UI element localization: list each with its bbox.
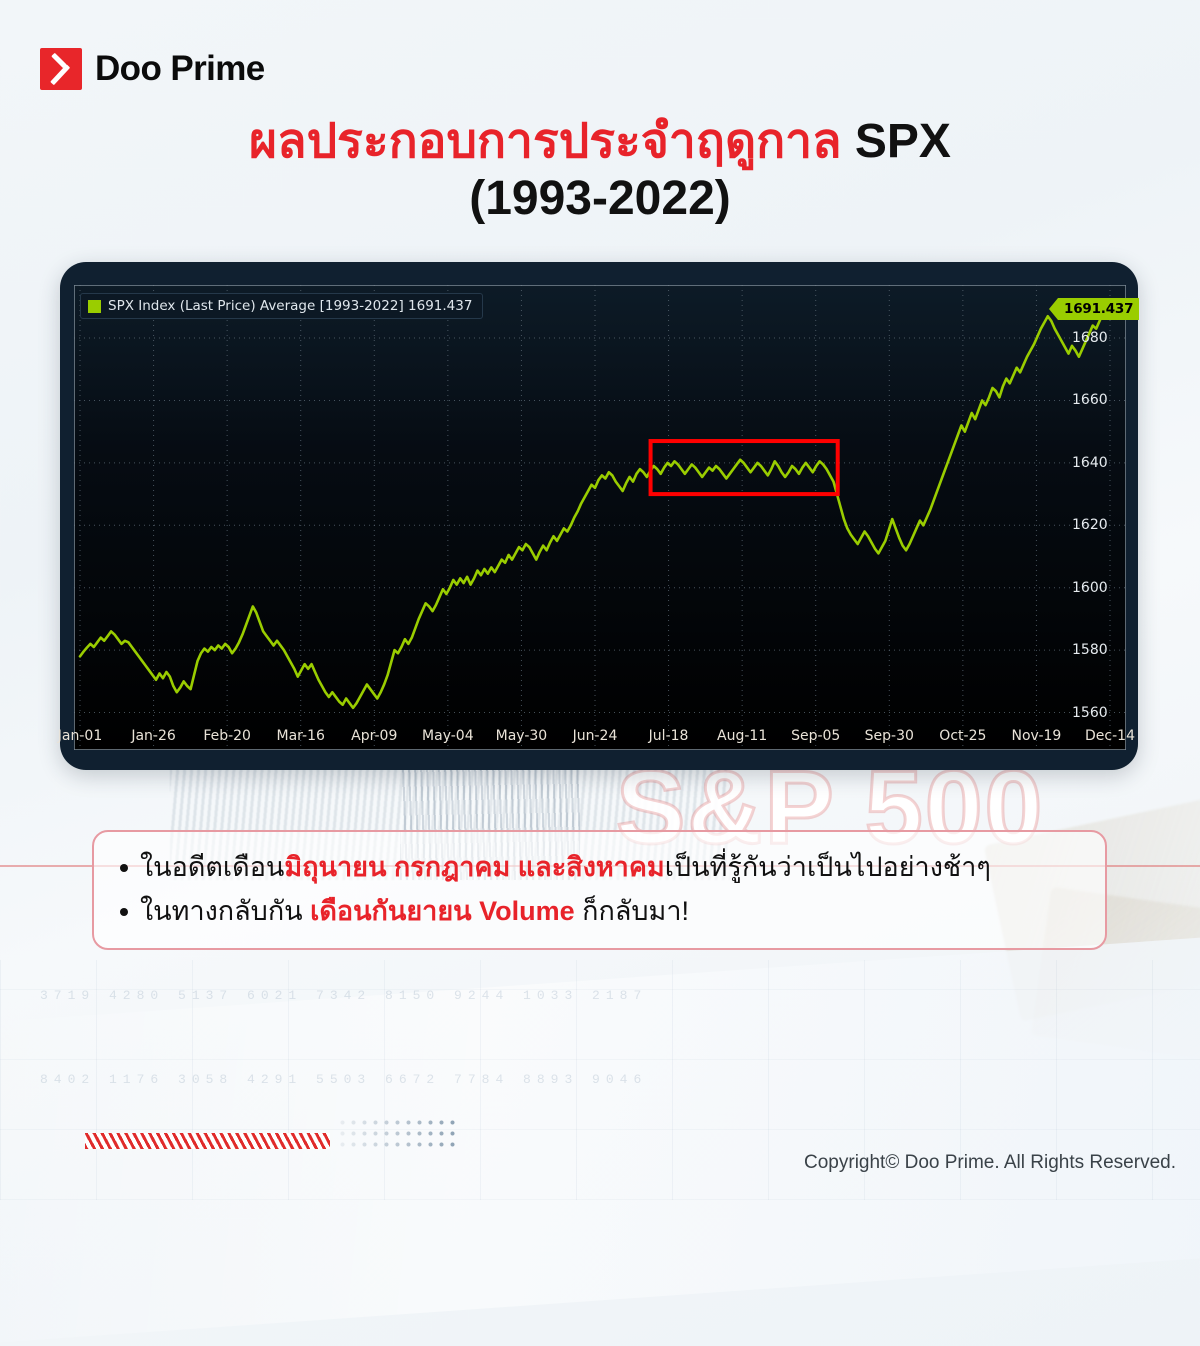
y-axis-tick: 1620 — [1072, 517, 1108, 533]
x-axis-tick: Jun-24 — [573, 728, 618, 744]
insights-box: ในอดีตเดือนมิถุนายน กรกฎาคม และสิงหาคมเป… — [92, 830, 1107, 950]
footer-stripe-decoration — [85, 1133, 330, 1149]
bullet-2-highlight: เดือนกันยายน Volume — [310, 896, 575, 926]
bg-number-row: 8402 1176 3058 4291 5503 6672 7784 8893 … — [40, 1072, 647, 1087]
title-thai: ผลประกอบการประจำฤดูกาล — [249, 115, 842, 168]
x-axis-tick: Dec-14 — [1085, 728, 1135, 744]
title-years: (1993-2022) — [0, 171, 1200, 228]
title-symbol: SPX — [855, 115, 951, 168]
x-axis-tick: Jan-01 — [58, 728, 102, 744]
brand-logo: Doo Prime — [40, 48, 265, 90]
bullet-1-post: เป็นที่รู้กันว่าเป็นไปอย่างช้าๆ — [665, 852, 991, 882]
chart-legend: SPX Index (Last Price) Average [1993-202… — [80, 293, 483, 319]
x-axis-tick: Sep-05 — [791, 728, 840, 744]
brand-logo-text: Doo Prime — [95, 49, 265, 89]
y-axis-tick: 1600 — [1072, 580, 1108, 596]
y-axis-tick: 1560 — [1072, 705, 1108, 721]
x-axis-tick: Oct-25 — [939, 728, 986, 744]
spx-line-chart — [74, 285, 1126, 750]
bullet-1-pre: ในอดีตเดือน — [140, 852, 284, 882]
bullet-dot-icon — [120, 864, 128, 872]
bullet-dot-icon — [120, 908, 128, 916]
doo-prime-mark-icon — [40, 48, 82, 90]
legend-color-swatch — [88, 300, 101, 313]
x-axis-tick: Apr-09 — [351, 728, 397, 744]
bullet-2-pre: ในทางกลับกัน — [140, 896, 310, 926]
price-tag-arrow-icon — [1049, 298, 1058, 320]
list-item: ในอดีตเดือนมิถุนายน กรกฎาคม และสิงหาคมเป… — [120, 851, 1079, 885]
x-axis-tick: Nov-19 — [1012, 728, 1062, 744]
bg-number-row: 3719 4280 5137 6021 7342 8150 9244 1033 … — [40, 988, 647, 1003]
footer-dot-decoration — [337, 1117, 455, 1149]
price-tag-value: 1691.437 — [1058, 298, 1139, 320]
last-price-tag: 1691.437 — [1049, 298, 1139, 320]
x-axis-tick: Jan-26 — [131, 728, 175, 744]
chart-plot-area — [74, 285, 1126, 750]
list-item: ในทางกลับกัน เดือนกันยายน Volume ก็กลับม… — [120, 895, 1079, 929]
page-title: ผลประกอบการประจำฤดูกาล SPX (1993-2022) — [0, 114, 1200, 227]
y-axis-tick: 1640 — [1072, 455, 1108, 471]
legend-label: SPX Index (Last Price) Average [1993-202… — [108, 298, 472, 314]
x-axis-labels: Jan-01Jan-26Feb-20Mar-16Apr-09May-04May-… — [74, 728, 1126, 750]
bullet-2-post: ก็กลับมา! — [575, 896, 689, 926]
x-axis-tick: May-30 — [496, 728, 548, 744]
copyright-text: Copyright© Doo Prime. All Rights Reserve… — [804, 1152, 1176, 1174]
x-axis-tick: Feb-20 — [203, 728, 251, 744]
x-axis-tick: Mar-16 — [277, 728, 325, 744]
y-axis-tick: 1680 — [1072, 330, 1108, 346]
x-axis-tick: Sep-30 — [865, 728, 914, 744]
x-axis-tick: May-04 — [422, 728, 474, 744]
x-axis-tick: Jul-18 — [649, 728, 689, 744]
bullet-1-highlight: มิถุนายน กรกฎาคม และสิงหาคม — [284, 852, 664, 882]
x-axis-tick: Aug-11 — [717, 728, 767, 744]
y-axis-labels: 1680166016401620160015801560 — [1062, 285, 1126, 750]
y-axis-tick: 1660 — [1072, 392, 1108, 408]
y-axis-tick: 1580 — [1072, 642, 1108, 658]
